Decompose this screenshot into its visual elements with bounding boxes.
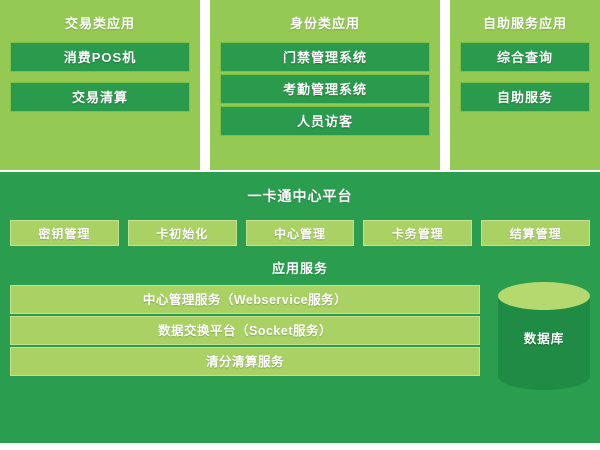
application-services-block: 应用服务 中心管理服务（Webservice服务） 数据交换平台（Socket服… [10,258,590,408]
panel-title: 交易类应用 [65,13,135,32]
module-settlement-management[interactable]: 结算管理 [481,220,590,246]
service-clearing-settlement[interactable]: 清分清算服务 [10,347,480,376]
architecture-diagram: 交易类应用 消费POS机 交易清算 身份类应用 门禁管理系统 考勤管理系统 人员… [0,0,600,450]
platform-module-row: 密钥管理 卡初始化 中心管理 卡务管理 结算管理 [10,220,590,246]
service-center-management-webservice[interactable]: 中心管理服务（Webservice服务） [10,285,480,314]
platform-title: 一卡通中心平台 [10,172,590,206]
app-box-access-control-system[interactable]: 门禁管理系统 [220,42,430,72]
application-services-title: 应用服务 [10,258,590,277]
application-services-list: 中心管理服务（Webservice服务） 数据交换平台（Socket服务） 清分… [10,285,480,376]
app-box-attendance-system[interactable]: 考勤管理系统 [220,74,430,104]
panel-transaction-applications: 交易类应用 消费POS机 交易清算 [0,0,200,170]
panel-title: 自助服务应用 [483,13,567,32]
app-box-pos-terminal[interactable]: 消费POS机 [10,42,190,72]
service-data-exchange-socket[interactable]: 数据交换平台（Socket服务） [10,316,480,345]
panel-title: 身份类应用 [290,13,360,32]
module-center-management[interactable]: 中心管理 [246,220,355,246]
panel-self-service-applications: 自助服务应用 综合查询 自助服务 [450,0,600,170]
app-box-transaction-settlement[interactable]: 交易清算 [10,82,190,112]
module-card-initialization[interactable]: 卡初始化 [128,220,237,246]
database-cylinder-top [498,282,590,310]
module-card-service-management[interactable]: 卡务管理 [363,220,472,246]
application-panels-row: 交易类应用 消费POS机 交易清算 身份类应用 门禁管理系统 考勤管理系统 人员… [0,0,600,170]
database-label: 数据库 [498,328,590,347]
app-box-visitor-management[interactable]: 人员访客 [220,106,430,136]
module-key-management[interactable]: 密钥管理 [10,220,119,246]
panel-identity-applications: 身份类应用 门禁管理系统 考勤管理系统 人员访客 [210,0,440,170]
panel-item-list: 门禁管理系统 考勤管理系统 人员访客 [220,42,430,136]
app-box-self-service[interactable]: 自助服务 [460,82,590,112]
central-platform-section: 一卡通中心平台 密钥管理 卡初始化 中心管理 卡务管理 结算管理 应用服务 中心… [0,172,600,443]
panel-item-list: 消费POS机 交易清算 [10,42,190,112]
panel-item-list: 综合查询 自助服务 [460,42,590,112]
app-box-comprehensive-query[interactable]: 综合查询 [460,42,590,72]
database-cylinder-icon: 数据库 [498,282,590,390]
